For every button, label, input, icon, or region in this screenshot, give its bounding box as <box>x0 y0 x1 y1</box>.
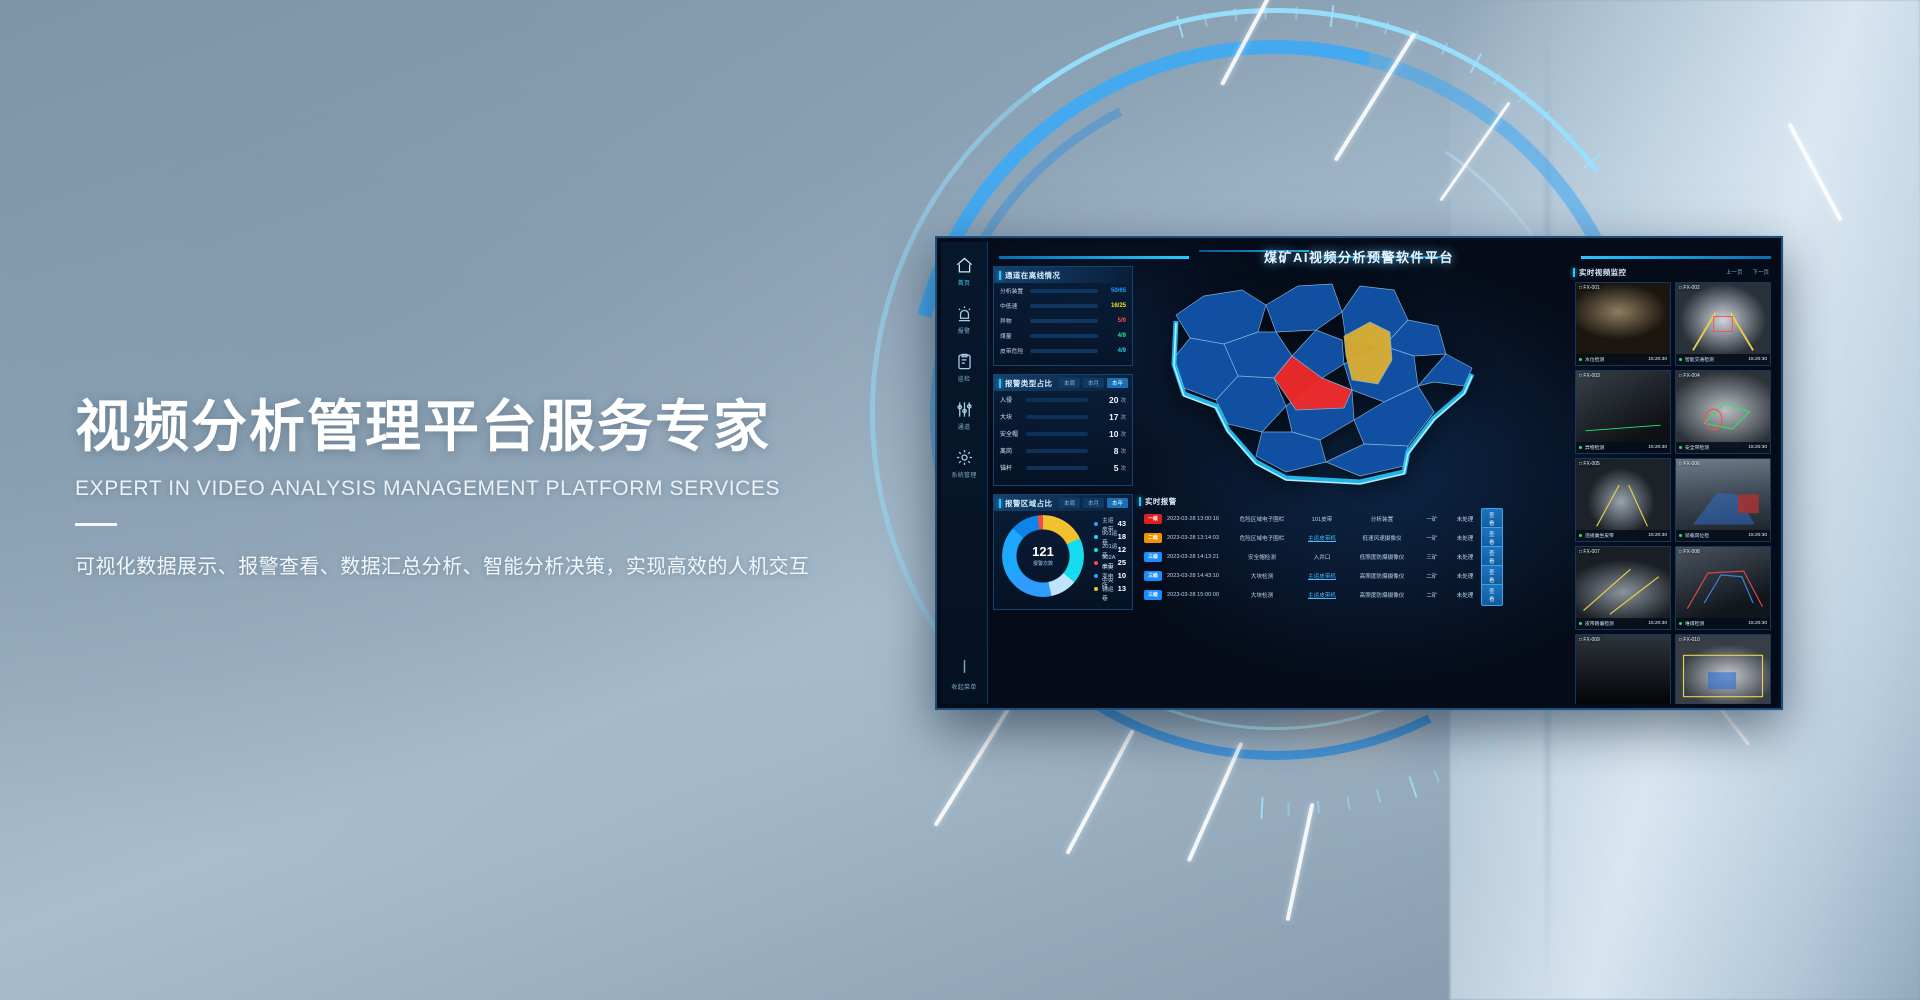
channel-label: 煤量 <box>1000 331 1030 340</box>
sidebar-label: 巡检 <box>958 374 971 383</box>
alarm-location-cell: 101皮带 <box>1295 515 1349 523</box>
alarm-location-cell: 主运皮带机 <box>1295 591 1349 599</box>
panel-title: 报警区域占比 <box>1005 498 1052 509</box>
video-pagination: 上一页 下一页 <box>1726 268 1773 276</box>
panel-period-tabs: 本周本月本年 <box>1059 498 1132 508</box>
video-time-label: 15:20:30 <box>1748 533 1767 538</box>
video-code-label: □ FX-006 <box>1679 461 1700 467</box>
status-badge: 三级 <box>1144 571 1162 581</box>
alarm-type-value: 17 <box>1088 412 1118 422</box>
next-page-button[interactable]: 下一页 <box>1752 268 1769 276</box>
alarm-type-row: 大块17次 <box>994 408 1132 425</box>
video-name-label: 违规乘坐皮带 <box>1585 532 1648 539</box>
page-description: 可视化数据展示、报警查看、数据汇总分析、智能分析决策，实现高效的人机交互 <box>75 550 935 579</box>
status-badge: 二级 <box>1144 533 1162 543</box>
video-tile[interactable]: □ FX-010离岗检测15:20:30 <box>1675 634 1771 704</box>
video-tile-footer: 异物检测15:20:30 <box>1576 442 1670 453</box>
alarm-type-cell: 大块检测 <box>1229 572 1295 580</box>
online-status-dot <box>1579 358 1582 361</box>
alarm-mine-cell: 二矿 <box>1415 572 1449 580</box>
channel-value: 4/9 <box>1098 348 1126 354</box>
alarm-type-label: 大块 <box>1000 412 1026 421</box>
alarm-type-value: 8 <box>1088 446 1118 456</box>
decor-tick <box>1287 802 1289 815</box>
video-code-label: □ FX-008 <box>1679 549 1700 555</box>
alarm-table-body: 一级2023-03-28 13:00:16危险区域电子围栏101皮带分析装置一矿… <box>1139 509 1491 604</box>
sidebar-collapse-button[interactable]: 收起菜单 <box>941 657 987 694</box>
panel-accent-bar <box>999 271 1001 280</box>
alarm-type-label: 入侵 <box>1000 395 1026 404</box>
alarm-level-cell: 三级 <box>1139 552 1167 562</box>
alarm-type-cell: 危险区域电子围栏 <box>1229 515 1295 523</box>
donut-total-caption: 报警次数 <box>1033 560 1053 567</box>
legend-dot <box>1094 587 1098 591</box>
alarm-type-row: 锚杆5次 <box>994 459 1132 476</box>
channel-value: 5/9 <box>1098 318 1126 324</box>
sidebar-label: 首页 <box>958 278 971 287</box>
video-time-label: 15:20:30 <box>1648 621 1667 626</box>
alarm-time-cell: 2023-03-28 13:14:03 <box>1167 535 1229 541</box>
sidebar-label: 通道 <box>958 422 971 431</box>
province-map[interactable] <box>1146 266 1486 491</box>
gear-icon <box>955 448 974 467</box>
alarm-level-cell: 三级 <box>1139 590 1167 600</box>
alarm-time-cell: 2023-03-28 15:00:00 <box>1167 592 1229 598</box>
legend-dot <box>1094 535 1098 539</box>
view-button[interactable]: 查看 <box>1481 584 1503 606</box>
divider-rule <box>75 523 117 526</box>
alarm-type-unit: 次 <box>1120 413 1126 421</box>
sidebar-label: 报警 <box>958 326 971 335</box>
video-name-label: 装载岗位检 <box>1685 532 1748 539</box>
panel-period-tabs: 本周本月本年 <box>1059 378 1132 388</box>
alarm-type-track <box>1026 432 1088 436</box>
video-code-label: □ FX-010 <box>1679 637 1700 643</box>
prev-page-button[interactable]: 上一页 <box>1726 268 1743 276</box>
legend-value: 18 <box>1118 532 1126 541</box>
video-name-label: 皮带跑偏检测 <box>1585 620 1648 627</box>
video-name-label: 异物检测 <box>1585 444 1648 451</box>
panel-channel-status: 通道在离线情况 分析装置50/65中低速16/25异物5/9煤量4/9皮带危险4… <box>993 266 1133 366</box>
channel-bar-row: 中低速16/25 <box>994 298 1132 313</box>
online-status-dot <box>1579 534 1582 537</box>
video-code-label: □ FX-001 <box>1579 285 1600 291</box>
map-svg <box>1146 266 1486 491</box>
page-title: 视频分析管理平台服务专家 <box>75 395 935 459</box>
alarm-type-track <box>1026 415 1088 419</box>
legend-dot <box>1094 548 1098 552</box>
video-feed-image <box>1576 635 1670 704</box>
channel-label: 皮带危险 <box>1000 346 1030 355</box>
channel-bar-track <box>1030 319 1098 323</box>
donut-center: 121 报警次数 <box>1002 515 1084 597</box>
video-code-label: □ FX-003 <box>1579 373 1600 379</box>
table-row: 三级2023-03-28 15:00:00大块检测主运皮带机高照度防爆摄像仪二矿… <box>1139 585 1491 604</box>
alarm-action-cell: 查看 <box>1481 584 1507 606</box>
video-feed-image <box>1576 283 1670 365</box>
dashboard-window: 煤矿AI视频分析预警软件平台 首页 报警 巡检 <box>935 236 1783 710</box>
period-tab[interactable]: 本年 <box>1107 498 1128 508</box>
sidebar-item-system[interactable]: 系统管理 <box>941 448 987 479</box>
alarm-type-cell: 安全帽检测 <box>1229 553 1295 561</box>
legend-value: 13 <box>1118 584 1126 593</box>
sidebar-item-channel[interactable]: 通道 <box>941 400 987 431</box>
alarm-type-value: 20 <box>1088 395 1118 405</box>
legend-value: 12 <box>1118 545 1126 554</box>
hero-text-block: 视频分析管理平台服务专家 EXPERT IN VIDEO ANALYSIS MA… <box>75 395 935 579</box>
video-time-label: 15:20:30 <box>1648 445 1667 450</box>
alarm-type-track <box>1026 398 1088 402</box>
video-time-label: 15:20:30 <box>1648 533 1667 538</box>
alarm-mine-cell: 一矿 <box>1415 515 1449 523</box>
panel-realtime-alarm: 实时报警 一级2023-03-28 13:00:16危险区域电子围栏101皮带分… <box>1139 494 1491 704</box>
alarm-type-label: 安全帽 <box>1000 429 1026 438</box>
alarm-type-unit: 次 <box>1120 464 1126 472</box>
period-tab[interactable]: 本年 <box>1107 378 1128 388</box>
panel-accent-bar <box>1139 497 1141 506</box>
table-row: 二级2023-03-28 13:14:03危险区域电子围栏主运皮带机低速风速摄像… <box>1139 528 1491 547</box>
legend-value: 25 <box>1118 558 1126 567</box>
channel-label: 分析装置 <box>1000 286 1030 295</box>
channel-value: 50/65 <box>1098 288 1126 294</box>
alarm-mine-cell: 三矿 <box>1415 553 1449 561</box>
video-tile[interactable]: □ FX-008堆煤检测15:20:30 <box>1675 546 1771 630</box>
alarm-type-label: 离岗 <box>1000 446 1026 455</box>
channel-bar-track <box>1030 349 1098 353</box>
video-time-label: 15:20:30 <box>1648 357 1667 362</box>
period-tab[interactable]: 本月 <box>1083 498 1104 508</box>
video-code-label: □ FX-002 <box>1679 285 1700 291</box>
alarm-level-cell: 一级 <box>1139 514 1167 524</box>
alarm-type-unit: 次 <box>1120 430 1126 438</box>
channel-bar-track <box>1030 304 1098 308</box>
channel-bar-track <box>1030 334 1098 338</box>
video-code-label: □ FX-009 <box>1579 637 1600 643</box>
video-time-label: 15:20:30 <box>1748 357 1767 362</box>
video-tile-footer: 堆煤检测15:20:30 <box>1676 618 1770 629</box>
status-badge: 一级 <box>1144 514 1162 524</box>
alarm-type-row: 安全帽10次 <box>994 425 1132 442</box>
panel-header: 报警区域占比 本周本月本年 <box>994 495 1132 511</box>
online-status-dot <box>1679 358 1682 361</box>
panel-header: 实时报警 <box>1139 494 1491 509</box>
panel-title: 报警类型占比 <box>1005 378 1052 389</box>
channel-bar-row: 皮带危险4/9 <box>994 343 1132 358</box>
channel-bar-row: 煤量4/9 <box>994 328 1132 343</box>
alarm-type-value: 10 <box>1088 429 1118 439</box>
panel-alarm-area: 报警区域占比 本周本月本年 121 报警次数 主运皮带43901运巷18201运… <box>993 494 1133 610</box>
video-tile-footer: 安全带检测15:20:30 <box>1676 442 1770 453</box>
alarm-time-cell: 2023-03-28 13:00:16 <box>1167 516 1229 522</box>
channel-label: 中低速 <box>1000 301 1030 310</box>
video-code-label: □ FX-004 <box>1679 373 1700 379</box>
sidebar-item-home[interactable]: 首页 <box>941 256 987 287</box>
sidebar-item-inspection[interactable]: 巡检 <box>941 352 987 383</box>
online-status-dot <box>1679 446 1682 449</box>
alarm-device-cell: 高照度防爆摄像仪 <box>1349 572 1415 580</box>
alarm-type-label: 锚杆 <box>1000 463 1026 472</box>
video-tile[interactable]: □ FX-009煤斗堵塞15:20:30 <box>1575 634 1671 704</box>
panel-header: 报警类型占比 本周本月本年 <box>994 375 1132 391</box>
channel-bar-row: 异物5/9 <box>994 313 1132 328</box>
legend-value: 10 <box>1118 571 1126 580</box>
clipboard-icon <box>955 352 974 371</box>
video-tile-footer: 皮带跑偏检测15:20:30 <box>1576 618 1670 629</box>
table-row: 一级2023-03-28 13:00:16危险区域电子围栏101皮带分析装置一矿… <box>1139 509 1491 528</box>
donut-legend: 主运皮带43901运巷18201运巷12902A皮带25中央变电所10中央辅运巷… <box>1094 517 1126 595</box>
sliders-icon <box>955 400 974 419</box>
panel-title: 实时视频监控 <box>1579 267 1626 278</box>
video-tile[interactable]: □ FX-005违规乘坐皮带15:20:30 <box>1575 458 1671 542</box>
alarm-time-cell: 2023-03-28 14:13:21 <box>1167 554 1229 560</box>
panel-alarm-type: 报警类型占比 本周本月本年 入侵20次大块17次安全帽10次离岗8次锚杆5次 <box>993 374 1133 486</box>
legend-dot <box>1094 561 1098 565</box>
online-status-dot <box>1579 446 1582 449</box>
alarm-type-bar-list: 入侵20次大块17次安全帽10次离岗8次锚杆5次 <box>994 391 1132 476</box>
panel-accent-bar <box>1573 268 1575 277</box>
channel-bar-track <box>1030 289 1098 293</box>
alarm-type-cell: 大块检测 <box>1229 591 1295 599</box>
page-subtitle: EXPERT IN VIDEO ANALYSIS MANAGEMENT PLAT… <box>75 477 935 501</box>
alarm-location-cell: 入井口 <box>1295 553 1349 561</box>
video-code-label: □ FX-007 <box>1579 549 1600 555</box>
alarm-location-cell: 主运皮带机 <box>1295 572 1349 580</box>
panel-accent-bar <box>999 379 1001 388</box>
table-row: 三级2023-03-28 14:43:10大块检测主运皮带机高照度防爆摄像仪二矿… <box>1139 566 1491 585</box>
period-tab[interactable]: 本周 <box>1059 378 1080 388</box>
alarm-level-cell: 二级 <box>1139 533 1167 543</box>
video-tile[interactable]: □ FX-002智能交通检测15:20:30 <box>1675 282 1771 366</box>
panel-title: 通道在离线情况 <box>1005 270 1060 281</box>
alarm-mine-cell: 一矿 <box>1415 534 1449 542</box>
panel-live-video: 实时视频监控 上一页 下一页 □ FX-001水位检测15:20:30□ FX-… <box>1573 264 1773 704</box>
online-status-dot <box>1679 622 1682 625</box>
legend-label: 中央辅运巷 <box>1102 575 1118 602</box>
map-region[interactable] <box>1418 354 1472 386</box>
sidebar-item-alarm[interactable]: 报警 <box>941 304 987 335</box>
table-row: 三级2023-03-28 14:13:21安全帽检测入井口低照度防爆摄像仪三矿未… <box>1139 547 1491 566</box>
video-tile-grid: □ FX-001水位检测15:20:30□ FX-002智能交通检测15:20:… <box>1575 282 1771 704</box>
video-tile[interactable]: □ FX-006装载岗位检15:20:30 <box>1675 458 1771 542</box>
video-code-label: □ FX-005 <box>1579 461 1600 467</box>
alarm-type-unit: 次 <box>1120 447 1126 455</box>
video-tile[interactable]: □ FX-004安全带检测15:20:30 <box>1675 370 1771 454</box>
donut-total-value: 121 <box>1032 545 1054 558</box>
period-tab[interactable]: 本周 <box>1059 498 1080 508</box>
panel-header: 实时视频监控 上一页 下一页 <box>1573 264 1773 280</box>
alarm-mine-cell: 二矿 <box>1415 591 1449 599</box>
sidebar-nav: 首页 报警 巡检 通道 <box>941 242 988 704</box>
video-tile[interactable]: □ FX-007皮带跑偏检测15:20:30 <box>1575 546 1671 630</box>
collapse-icon <box>955 657 974 676</box>
video-time-label: 15:20:30 <box>1748 445 1767 450</box>
alarm-type-track <box>1026 449 1088 453</box>
panel-accent-bar <box>999 499 1001 508</box>
period-tab[interactable]: 本月 <box>1083 378 1104 388</box>
video-name-label: 智能交通检测 <box>1685 356 1748 363</box>
channel-bar-row: 分析装置50/65 <box>994 283 1132 298</box>
status-badge: 三级 <box>1144 552 1162 562</box>
channel-bar-list: 分析装置50/65中低速16/25异物5/9煤量4/9皮带危险4/9 <box>994 283 1132 358</box>
legend-value: 43 <box>1118 519 1126 528</box>
alarm-type-track <box>1026 466 1088 470</box>
alarm-type-value: 5 <box>1088 463 1118 473</box>
alarm-time-cell: 2023-03-28 14:43:10 <box>1167 573 1229 579</box>
map-region[interactable] <box>1266 284 1342 332</box>
alarm-status-cell: 未处理 <box>1449 572 1481 580</box>
video-time-label: 15:20:30 <box>1748 621 1767 626</box>
alarm-type-cell: 危险区域电子围栏 <box>1229 534 1295 542</box>
channel-value: 16/25 <box>1098 303 1126 309</box>
alarm-status-cell: 未处理 <box>1449 534 1481 542</box>
video-name-label: 安全带检测 <box>1685 444 1748 451</box>
video-tile-footer: 装载岗位检15:20:30 <box>1676 530 1770 541</box>
alarm-type-row: 离岗8次 <box>994 442 1132 459</box>
alarm-status-cell: 未处理 <box>1449 591 1481 599</box>
legend-row: 中央辅运巷13 <box>1094 582 1126 595</box>
alarm-level-cell: 三级 <box>1139 571 1167 581</box>
alarm-device-cell: 低照度防爆摄像仪 <box>1349 553 1415 561</box>
alarm-icon <box>955 304 974 323</box>
channel-value: 4/9 <box>1098 333 1126 339</box>
panel-header: 通道在离线情况 <box>994 267 1132 283</box>
home-icon <box>955 256 974 275</box>
alarm-device-cell: 分析装置 <box>1349 515 1415 523</box>
alarm-device-cell: 高照度防爆摄像仪 <box>1349 591 1415 599</box>
online-status-dot <box>1679 534 1682 537</box>
video-tile-footer: 违规乘坐皮带15:20:30 <box>1576 530 1670 541</box>
panel-title: 实时报警 <box>1145 496 1177 507</box>
legend-dot <box>1094 522 1098 526</box>
alarm-type-row: 入侵20次 <box>994 391 1132 408</box>
video-tile-footer: 智能交通检测15:20:30 <box>1676 354 1770 365</box>
video-name-label: 堆煤检测 <box>1685 620 1748 627</box>
status-badge: 三级 <box>1144 590 1162 600</box>
video-tile[interactable]: □ FX-001水位检测15:20:30 <box>1575 282 1671 366</box>
alarm-status-cell: 未处理 <box>1449 553 1481 561</box>
video-tile[interactable]: □ FX-003异物检测15:20:30 <box>1575 370 1671 454</box>
alarm-type-unit: 次 <box>1120 396 1126 404</box>
channel-label: 异物 <box>1000 316 1030 325</box>
donut-chart: 121 报警次数 <box>1002 515 1084 597</box>
video-tile-footer: 水位检测15:20:30 <box>1576 354 1670 365</box>
online-status-dot <box>1579 622 1582 625</box>
video-name-label: 水位检测 <box>1585 356 1648 363</box>
alarm-status-cell: 未处理 <box>1449 515 1481 523</box>
alarm-device-cell: 低速风速摄像仪 <box>1349 534 1415 542</box>
map-region[interactable] <box>1326 444 1408 476</box>
sidebar-collapse-label: 收起菜单 <box>951 685 976 691</box>
legend-dot <box>1094 574 1098 578</box>
alarm-location-cell: 主运皮带机 <box>1295 534 1349 542</box>
sidebar-label: 系统管理 <box>951 470 976 479</box>
